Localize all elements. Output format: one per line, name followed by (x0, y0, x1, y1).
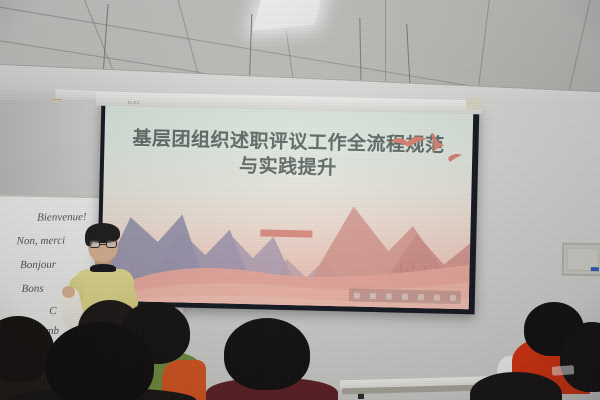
laser-pointer-icon[interactable] (370, 292, 376, 298)
audience-front-center-head (46, 322, 154, 400)
whiteboard-line-1: Bienvenue! (37, 211, 87, 224)
title-accent-bar (260, 229, 312, 237)
highlighter-icon[interactable] (386, 293, 392, 299)
classroom-photo: Bienvenue! Non, merci Bonjour Bons C Com… (0, 0, 600, 400)
zoom-icon[interactable] (434, 294, 440, 300)
projector-screen-end-cap (466, 97, 482, 110)
presentation-slide: 基层团组织述职评议工作全流程规范 与实践提升 (101, 104, 474, 310)
more-options-icon[interactable] (450, 294, 456, 300)
projector-screen: 基层团组织述职评议工作全流程规范 与实践提升 (97, 100, 480, 315)
presenter-collar (90, 264, 116, 272)
whiteboard-line-3: Bonjour (20, 259, 56, 272)
audience-center-head (224, 318, 310, 390)
pen-icon[interactable] (354, 292, 360, 298)
glasses-icon (89, 240, 117, 248)
whiteboard-line-5: C (49, 305, 57, 317)
eraser-icon[interactable] (402, 293, 408, 299)
wall-panel-label (591, 267, 599, 271)
hoodie-logo (552, 365, 575, 376)
housing-label: ELEC (128, 100, 140, 105)
slide-grid-icon[interactable] (418, 294, 424, 300)
powerpoint-presenter-toolbar[interactable] (349, 288, 461, 304)
writer-hand (62, 286, 75, 298)
flying-birds-icon (386, 126, 473, 174)
whiteboard-line-2: Non, merci (17, 235, 66, 248)
whiteboard-line-4: Bons (22, 283, 44, 295)
wall-electrical-panel (562, 243, 600, 277)
